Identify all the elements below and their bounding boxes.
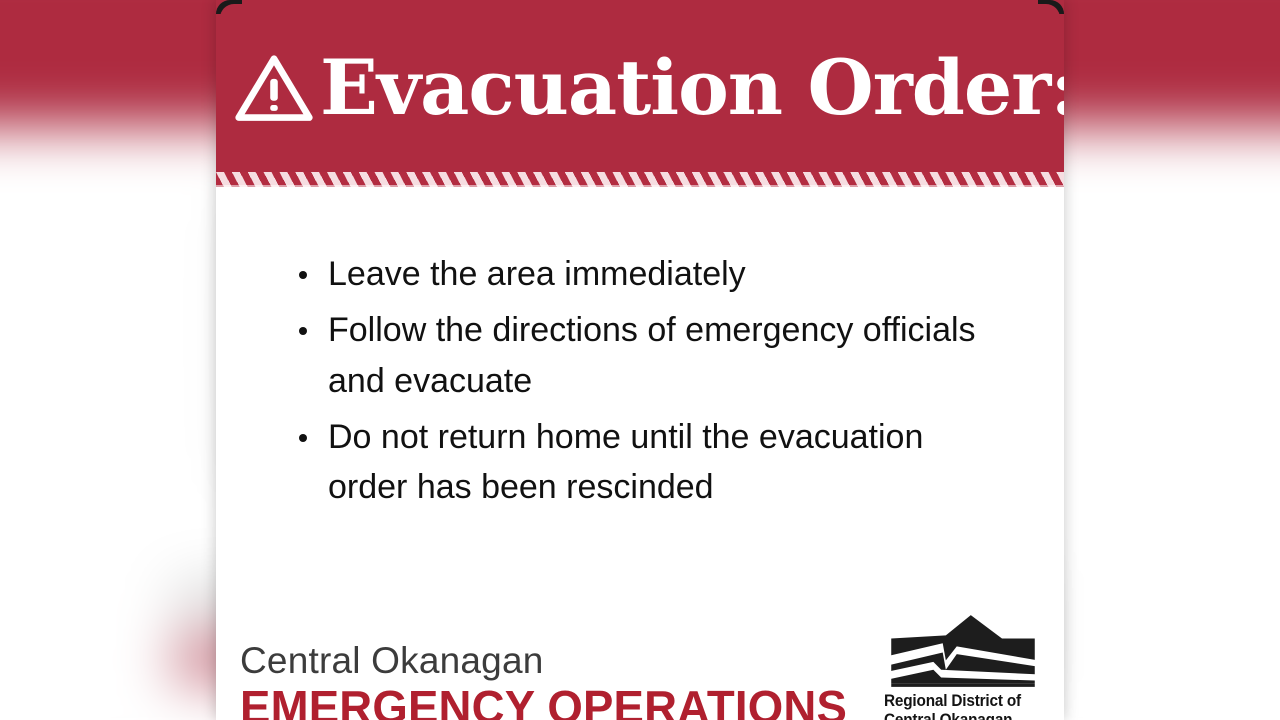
poster-body: Leave the area immediately Follow the di… [216,187,1064,519]
page-title: Evacuation Order: [320,50,1064,126]
emergency-operations-lockup: Central Okanagan EMERGENCY OPERATIONS [240,642,853,720]
list-item: Follow the directions of emergency offic… [296,305,988,406]
list-item: Do not return home until the evacuation … [296,412,988,513]
list-item: Leave the area immediately [296,249,988,299]
eoc-program-name: EMERGENCY OPERATIONS [240,682,847,720]
list-item-text: Do not return home until the evacuation … [328,418,923,506]
warning-triangle-icon [232,47,316,131]
poster-header: Evacuation Order: [216,0,1064,172]
eoc-organization-name: Central Okanagan [240,642,853,681]
list-item-text: Leave the area immediately [328,255,746,293]
screenshot-stage: Evacuation Order: Leave the area immedia… [0,0,1280,720]
list-item-text: Follow the directions of emergency offic… [328,311,976,399]
instruction-list: Leave the area immediately Follow the di… [296,249,1024,513]
evacuation-order-poster: Evacuation Order: Leave the area immedia… [216,0,1064,720]
striped-divider [216,172,1064,187]
regional-district-logo-text: Regional District of Central Okanagan [884,692,1031,720]
rdco-line-2: Central Okanagan [884,711,1031,720]
regional-district-logo: Regional District of Central Okanagan [884,612,1042,720]
mountain-landscape-icon [884,612,1042,690]
bullet-dot-icon [299,327,307,335]
bullet-dot-icon [299,434,307,442]
rdco-line-1: Regional District of [884,692,1031,711]
poster-footer: Central Okanagan EMERGENCY OPERATIONS Re… [216,592,1064,720]
bullet-dot-icon [299,271,307,279]
